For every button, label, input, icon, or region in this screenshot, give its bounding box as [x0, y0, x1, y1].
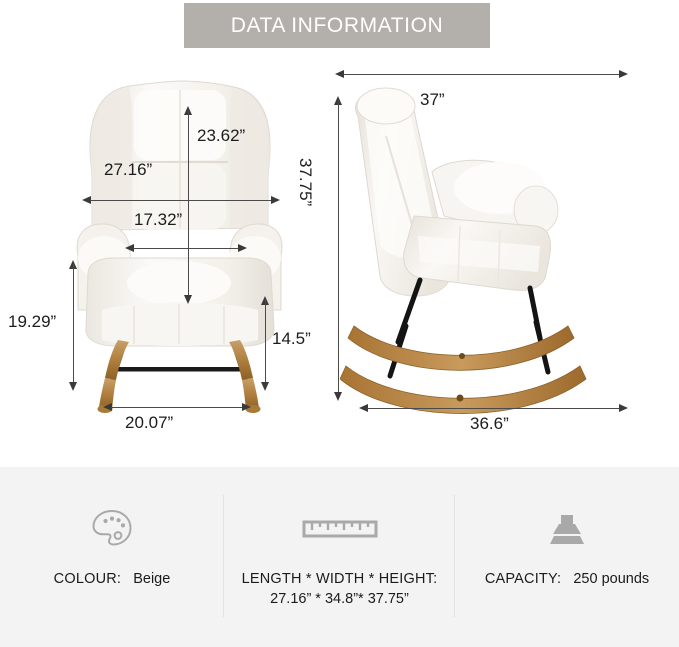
- diagram-area: 23.62” 27.16” 17.32” 19.29” 14.5” 20.07”…: [0, 48, 679, 467]
- spec-colour-text: COLOUR: Beige: [54, 569, 171, 589]
- colour-palette-icon: [89, 503, 135, 555]
- spec-dimensions-value: 27.16” * 34.8”* 37.75”: [242, 589, 438, 609]
- dim-line-total-height: [338, 100, 339, 394]
- dim-label-top-depth: 37”: [420, 90, 445, 110]
- dim-label-rocker-length: 36.6”: [470, 414, 509, 434]
- dim-arrow-overall-width-right: [271, 196, 280, 204]
- dim-line-top-depth: [343, 74, 620, 75]
- ruler-icon: [302, 503, 378, 555]
- dim-arrow-seat-width-right: [238, 244, 247, 252]
- spec-colour-value: Beige: [125, 571, 170, 587]
- spec-capacity-key: CAPACITY:: [485, 571, 561, 587]
- dim-label-seat-width: 17.32”: [134, 210, 182, 230]
- spec-capacity-value: 250 pounds: [565, 571, 649, 587]
- spec-capacity-text: CAPACITY: 250 pounds: [485, 569, 649, 589]
- dim-arrow-top-depth-right: [619, 70, 628, 78]
- dim-line-seat-height: [265, 300, 266, 384]
- spec-dimensions-text: LENGTH * WIDTH * HEIGHT: 27.16” * 34.8”*…: [242, 569, 438, 609]
- dim-label-side-height: 19.29”: [8, 312, 56, 332]
- specification-bar: COLOUR: Beige: [0, 467, 679, 647]
- dim-label-overall-width: 27.16”: [104, 160, 152, 180]
- spec-dimensions-key: LENGTH * WIDTH * HEIGHT:: [242, 571, 438, 587]
- rocking-chair-side-view: [340, 76, 608, 416]
- weight-capacity-icon: [545, 503, 589, 555]
- dim-label-base-width: 20.07”: [125, 413, 173, 433]
- spec-colour-key: COLOUR:: [54, 571, 121, 587]
- dim-line-seat-width: [133, 248, 239, 249]
- dim-arrow-side-height-bottom: [69, 382, 77, 391]
- dim-line-side-height: [73, 264, 74, 384]
- dim-line-overall-width: [90, 200, 272, 201]
- dim-arrow-total-height-bottom: [334, 392, 342, 401]
- dim-arrow-back-height-bottom: [184, 295, 192, 304]
- dim-arrow-seat-height-bottom: [261, 382, 269, 391]
- page-title: DATA INFORMATION: [231, 14, 444, 38]
- header-banner: DATA INFORMATION: [184, 3, 490, 48]
- dim-arrow-base-width-right: [242, 403, 251, 411]
- dim-arrow-rocker-length-right: [619, 404, 628, 412]
- dim-line-base-width: [111, 407, 243, 408]
- dim-label-back-height: 23.62”: [197, 126, 245, 146]
- product-dimension-infographic: DATA INFORMATION: [0, 0, 679, 647]
- spec-colour: COLOUR: Beige: [0, 467, 224, 647]
- dim-label-total-height: 37.75”: [295, 158, 315, 206]
- dim-line-rocker-length: [367, 408, 620, 409]
- dim-line-back-height: [188, 110, 189, 296]
- spec-capacity: CAPACITY: 250 pounds: [455, 467, 679, 647]
- spec-dimensions: LENGTH * WIDTH * HEIGHT: 27.16” * 34.8”*…: [224, 467, 455, 647]
- dim-label-seat-height: 14.5”: [272, 329, 311, 349]
